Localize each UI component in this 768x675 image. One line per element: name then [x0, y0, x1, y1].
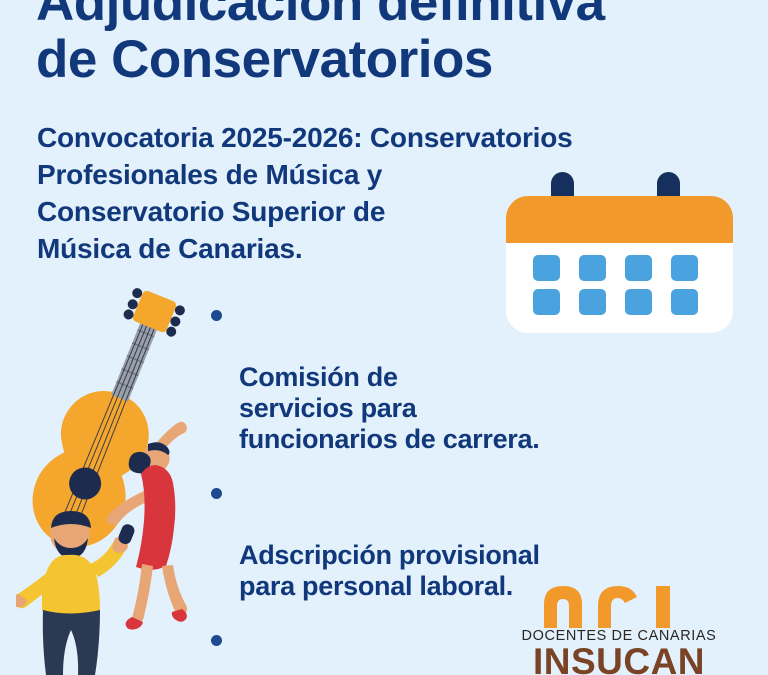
- poster-canvas: Adjudicación definitiva de Conservatorio…: [0, 0, 768, 675]
- guitar-and-dancers-illustration: [16, 276, 226, 675]
- bullet-dot-icon: [211, 488, 222, 499]
- woman-dress: [136, 465, 175, 570]
- list-item-label: Comisión de servicios para funcionarios …: [239, 362, 539, 454]
- list-item-label: Adscripción provisional para personal la…: [239, 540, 540, 601]
- woman-leg-left: [133, 564, 154, 622]
- bullet-dot-icon: [211, 635, 222, 646]
- man-trousers: [43, 610, 100, 675]
- dci-letter-i: [656, 586, 670, 628]
- bullet-dot-icon: [211, 310, 222, 321]
- man-singer: [16, 511, 136, 675]
- logo-tagline: DOCENTES DE CANARIAS: [514, 628, 724, 645]
- logo-organisation: INSUCAN: [514, 645, 724, 675]
- dci-logomark-svg: [514, 582, 724, 628]
- dci-logomark: [514, 582, 724, 628]
- page-title: Adjudicación definitiva de Conservatorio…: [36, 0, 736, 88]
- illustration-svg: [16, 276, 226, 675]
- calendar-header-band: [506, 196, 733, 243]
- dci-letter-d: [544, 586, 582, 628]
- list-item: Comisión de servicios para funcionarios …: [206, 300, 636, 455]
- dci-insucan-logo: DOCENTES DE CANARIAS INSUCAN: [514, 582, 724, 675]
- woman-leg-right: [162, 565, 187, 615]
- dci-letter-c: [598, 586, 637, 628]
